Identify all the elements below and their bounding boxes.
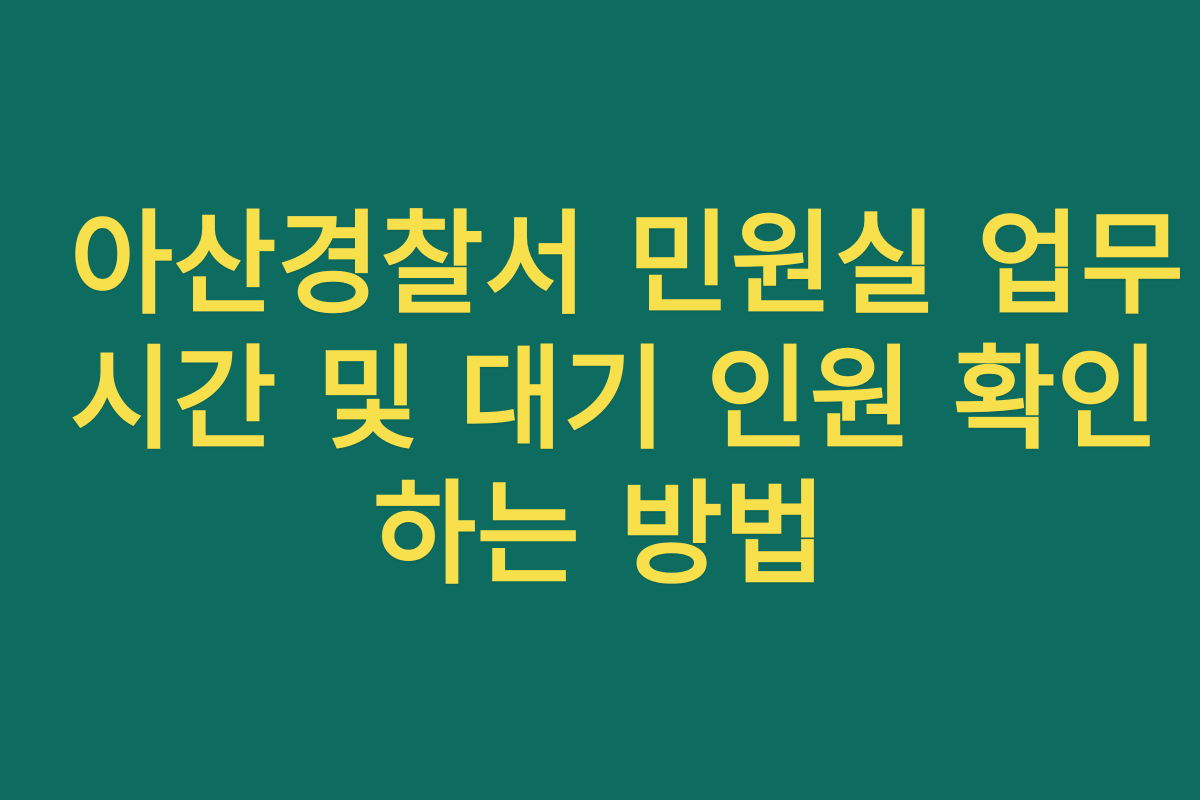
title-line-3: 하는 방법 (70, 468, 1130, 603)
title-line-2: 시간 및 대기 인원 확인 (70, 333, 1130, 468)
title-banner: 아산경찰서 민원실 업무 시간 및 대기 인원 확인 하는 방법 (0, 0, 1200, 800)
page-title: 아산경찰서 민원실 업무 시간 및 대기 인원 확인 하는 방법 (70, 198, 1130, 603)
title-line-1: 아산경찰서 민원실 업무 (70, 198, 1130, 333)
